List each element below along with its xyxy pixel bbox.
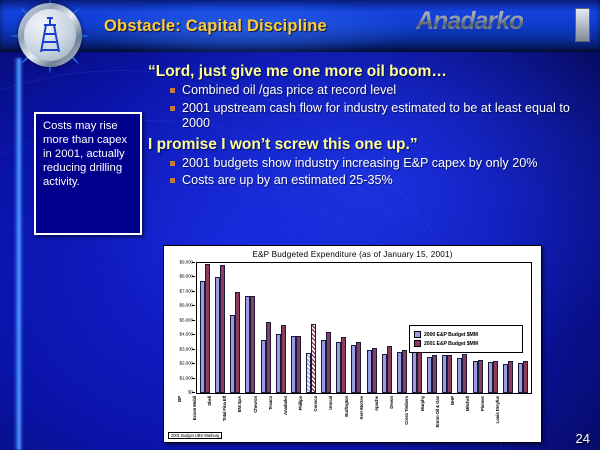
bar-group [397,350,407,393]
y-axis-tick-label: $8,000 [180,274,193,279]
bar-group [291,336,301,393]
bar-2001 [523,361,528,393]
bar-group [442,355,452,393]
presentation-slide: Obstacle: Capital Discipline Anadarko Co… [0,0,600,450]
bar-group [245,296,255,393]
bar-2001 [387,346,392,393]
y-axis-tick-mark [192,392,195,393]
bar-2001 [417,348,422,393]
x-axis-tick-label: BP [177,396,182,402]
bar-group [276,325,286,393]
bar-2001 [296,336,301,393]
bar-group [518,361,528,393]
legend-swatch [414,331,421,338]
bar-2001 [356,342,361,393]
brand-wordmark: Anadarko [416,7,523,36]
y-axis-tick-label: $5,000 [180,317,193,322]
x-axis-tick-label: Shell [207,396,212,406]
body-heading-2: I promise I won’t screw this one up.” [148,135,594,154]
x-axis-tick-label: Burlington [344,396,349,417]
bar-group [382,346,392,393]
x-axis-tick-label: ENI SpA [237,396,242,412]
y-axis-tick-label: $7,000 [180,288,193,293]
x-axis-tick-label: Chevron [253,396,258,413]
brand-tower-mark [575,8,590,42]
bar-2001 [266,322,271,393]
x-axis-tick-label: Anadarko [283,396,288,415]
bar-group [488,361,498,394]
bar-group [473,360,483,393]
bar-2001 [235,292,240,393]
bar-group [351,342,361,393]
bar-group [215,265,225,393]
legend-swatch [414,340,421,347]
bar-2001 [508,361,513,393]
bar-group [261,322,271,393]
bar-group [306,324,316,393]
y-axis-tick-mark [192,305,195,306]
bar-2001 [341,337,346,393]
x-axis-tick-label: Conoco [313,396,318,411]
bar-2001 [326,332,331,393]
list-item: 2001 upstream cash flow for industry est… [182,101,594,132]
bar-group [412,348,422,393]
y-axis-tick-mark [192,262,195,263]
y-axis-tick-label: $4,000 [180,332,193,337]
chart-container: E&P Budgeted Expenditure (as of January … [163,245,542,443]
bar-group [367,348,377,393]
x-axis-tick-label: Mitchell [465,396,470,411]
y-axis-tick-label: $9,000 [180,260,193,265]
x-axis-tick-label: Total Fina Elf [222,396,227,421]
bar-group [321,332,331,393]
bullet-list-2: 2001 budgets show industry increasing E&… [148,156,594,189]
page-title: Obstacle: Capital Discipline [104,17,327,36]
x-axis-tick-label: Murphy [420,396,425,411]
x-axis-tick-label: Cross Timbers [404,396,409,425]
y-axis-tick-mark [192,378,195,379]
bar-group [457,354,467,393]
x-axis-tick-label: Apache [374,396,379,411]
x-axis-tick-label: Phillips [298,396,303,410]
slide-header-band: Obstacle: Capital Discipline Anadarko [0,0,600,52]
x-axis-tick-label: Louis Dreyfus [495,396,500,423]
x-axis-tick-label: BHP [450,396,455,405]
y-axis-tick-mark [192,363,195,364]
legend-label: 2001 E&P Budget $MM [424,341,478,347]
y-axis-tick-label: $3,000 [180,346,193,351]
bullet-list-1: Combined oil /gas price at record level … [148,83,594,132]
x-axis-tick-label: Kerr-McGee [359,396,364,419]
bar-group [336,337,346,393]
bar-2001 [402,350,407,393]
bar-2001 [462,354,467,393]
chart-source-note: 2001 Budget UBS Warburg [168,432,222,439]
bar-2001 [478,360,483,393]
bar-group [200,264,210,393]
bar-group [230,292,240,393]
x-axis-tick-label: Devon [389,396,394,409]
y-axis-tick-mark [192,334,195,335]
bar-group [503,361,513,393]
bar-2001 [432,355,437,393]
chart-legend: 2000 E&P Budget $MM2001 E&P Budget $MM [409,325,523,353]
bar-2001 [311,324,316,393]
slide-page-number: 24 [576,431,590,446]
y-axis-tick-mark [192,320,195,321]
chart-plot-area: 2000 E&P Budget $MM2001 E&P Budget $MM [196,262,532,394]
callout-box: Costs may rise more than capex in 2001, … [34,112,142,235]
legend-label: 2000 E&P Budget $MM [424,332,478,338]
x-axis-tick-label: Exxon Mobil [192,396,197,420]
bar-2001 [372,348,377,393]
bar-2001 [250,296,255,393]
anadarko-brand-logo: Anadarko [416,5,592,47]
x-axis-tick-label: Enron Oil & Gas [435,396,440,427]
y-axis-tick-mark [192,276,195,277]
legend-item: 2000 E&P Budget $MM [414,331,518,338]
bar-2001 [281,325,286,393]
oil-derrick-icon [36,16,64,54]
callout-text: Costs may rise more than capex in 2001, … [36,114,140,189]
bar-2001 [447,355,452,393]
list-item: Costs are up by an estimated 25-35% [182,173,594,189]
slide-body: “Lord, just give me one more oil boom… C… [148,62,594,192]
list-item: 2001 budgets show industry increasing E&… [182,156,594,172]
company-compass-logo [2,0,98,74]
x-axis-tick-label: Pioneer [480,396,485,411]
y-axis-tick-label: $2,000 [180,361,193,366]
chart-title: E&P Budgeted Expenditure (as of January … [164,250,541,259]
x-axis-tick-label: Texaco [268,396,273,410]
bar-2001 [205,264,210,393]
y-axis-tick-label: $1,000 [180,375,193,380]
bar-group [427,355,437,393]
bar-2001 [220,265,225,393]
x-axis-tick-label: Unocal [328,396,333,410]
left-edge-glow [14,58,23,450]
list-item: Combined oil /gas price at record level [182,83,594,99]
body-heading-1: “Lord, just give me one more oil boom… [148,62,594,81]
chart-y-axis: $0$1,000$2,000$3,000$4,000$5,000$6,000$7… [164,262,195,394]
y-axis-tick-mark [192,349,195,350]
y-axis-tick-mark [192,291,195,292]
y-axis-tick-label: $6,000 [180,303,193,308]
bar-2001 [493,361,498,394]
legend-item: 2001 E&P Budget $MM [414,340,518,347]
